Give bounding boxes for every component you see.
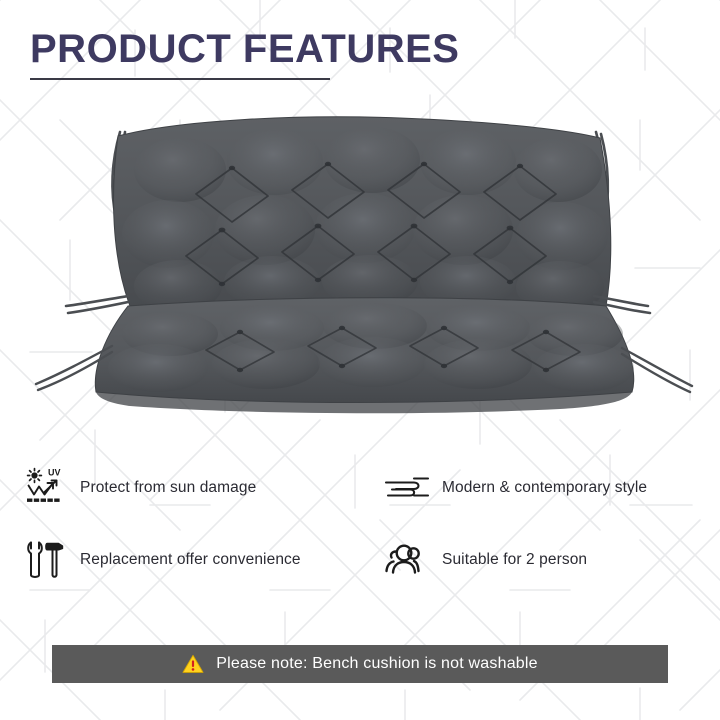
modern-lines-icon	[384, 465, 430, 511]
wrench-hammer-tools-icon	[22, 537, 68, 583]
feature-item-sun-protection: UV Protect from s	[22, 465, 384, 511]
feature-label: Protect from sun damage	[80, 479, 256, 497]
feature-label: Suitable for 2 person	[442, 551, 587, 569]
product-features-infographic: PRODUCT FEATURES	[0, 0, 720, 720]
feature-label: Modern & contemporary style	[442, 479, 647, 497]
feature-list: UV Protect from s	[22, 452, 706, 596]
cushion-seat	[95, 298, 634, 414]
product-image-bench-cushion	[0, 110, 720, 430]
cushion-backrest	[114, 117, 611, 313]
note-bar: Please note: Bench cushion is not washab…	[52, 645, 668, 683]
svg-text:UV: UV	[48, 468, 61, 478]
warning-triangle-icon	[182, 654, 204, 674]
feature-item-replacement: Replacement offer convenience	[22, 537, 384, 583]
page-title: PRODUCT FEATURES	[30, 28, 459, 70]
feature-item-capacity: Suitable for 2 person	[384, 537, 706, 583]
two-people-icon	[384, 537, 430, 583]
feature-item-modern-style: Modern & contemporary style	[384, 465, 706, 511]
uv-sun-protection-icon: UV	[22, 465, 68, 511]
note-text: Please note: Bench cushion is not washab…	[216, 655, 538, 673]
title-underline-divider	[30, 78, 330, 80]
header: PRODUCT FEATURES	[30, 28, 459, 80]
feature-label: Replacement offer convenience	[80, 551, 301, 569]
